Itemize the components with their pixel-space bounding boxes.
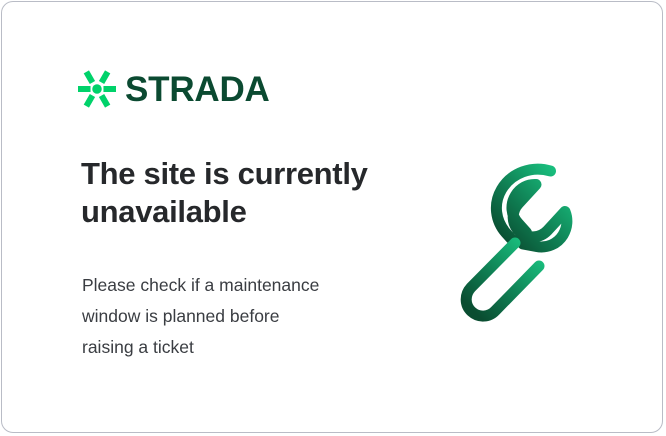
page-title: The site is currently unavailable: [81, 155, 411, 231]
wrench-icon: [454, 157, 614, 322]
maintenance-message-line: window is planned before: [82, 301, 392, 332]
maintenance-message-line: Please check if a maintenance: [82, 270, 392, 301]
maintenance-message-line: raising a ticket: [82, 332, 392, 363]
brand-lockup: STRADA: [78, 70, 270, 108]
maintenance-message: Please check if a maintenance window is …: [82, 270, 392, 363]
brand-wordmark: STRADA: [125, 72, 270, 107]
strada-asterisk-icon: [78, 70, 116, 108]
maintenance-card: STRADA The site is currently unavailable…: [1, 1, 663, 433]
